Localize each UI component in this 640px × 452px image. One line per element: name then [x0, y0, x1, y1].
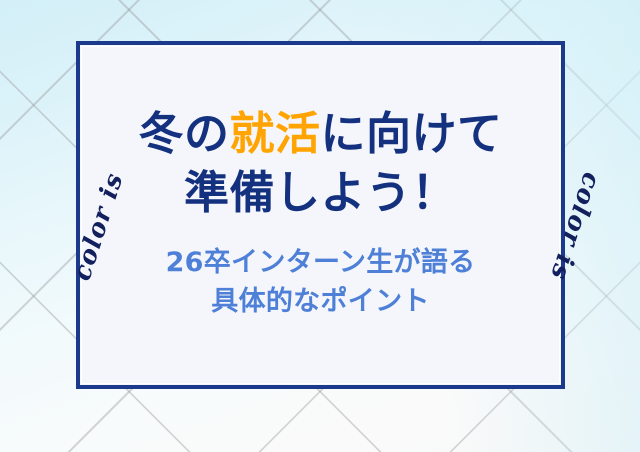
headline-line-2: 準備しよう！: [138, 164, 502, 223]
headline-line1-part2: に向けて: [321, 107, 503, 160]
poster-canvas: 冬の就活に向けて 準備しよう！ 26卒インターン生が語る 具体的なポイント co…: [0, 0, 640, 452]
headline-line1-accent: 就活: [229, 107, 320, 160]
subtitle-line-2: 具体的なポイント: [166, 283, 476, 321]
headline-line-1: 冬の就活に向けて: [138, 105, 502, 164]
headline-block: 冬の就活に向けて 準備しよう！: [138, 105, 502, 222]
poster-text-stack: 冬の就活に向けて 準備しよう！ 26卒インターン生が語る 具体的なポイント: [76, 41, 565, 389]
subtitle-block: 26卒インターン生が語る 具体的なポイント: [166, 244, 476, 321]
headline-line1-part1: 冬の: [138, 107, 229, 160]
subtitle-line-1: 26卒インターン生が語る: [166, 244, 476, 282]
